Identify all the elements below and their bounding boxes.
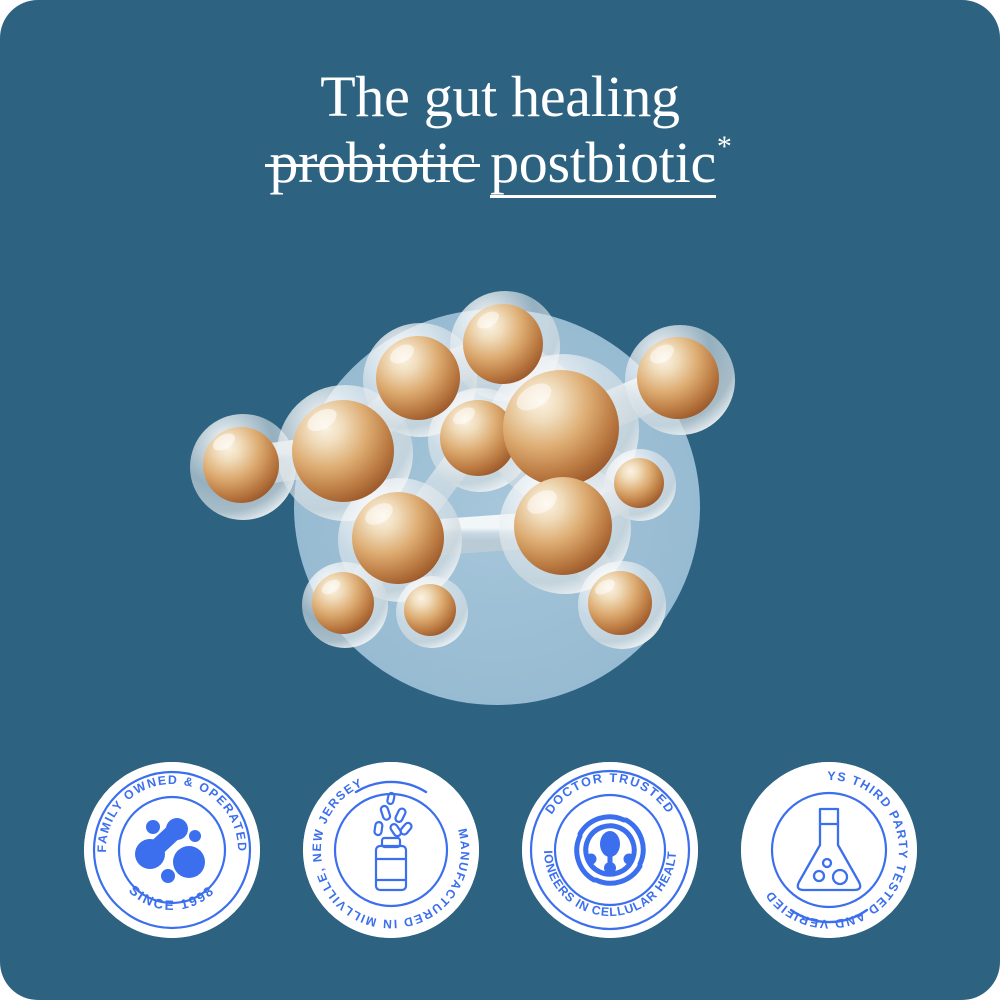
postbiotic-molecule-illustration — [0, 250, 1000, 730]
page-title: The gut healing probioticpostbiotic* — [0, 66, 1000, 194]
cell-atom-icon — [576, 817, 642, 883]
footnote-marker: * — [717, 130, 732, 163]
badge-family-owned[interactable]: FAMILY OWNED & OPERATED SINCE 1998 — [84, 762, 260, 938]
headline-line-1: The gut healing — [0, 66, 1000, 128]
trust-badge-row: FAMILY OWNED & OPERATED SINCE 1998 — [0, 762, 1000, 938]
badge-third-party-tested[interactable]: ALWAYS THIRD PARTY TESTED AND VERIFIED — [741, 762, 917, 938]
badge-doctor-trusted[interactable]: DOCTOR TRUSTED PIONEERS IN CELLULAR HEAL… — [522, 762, 698, 938]
strikethrough-word: probiotic — [269, 132, 476, 194]
headline-line-2: probioticpostbiotic* — [0, 132, 1000, 194]
emphasized-word: postbiotic — [490, 132, 716, 194]
promo-banner: The gut healing probioticpostbiotic* — [0, 0, 1000, 1000]
badge-manufactured-nj[interactable]: MANUFACTURED IN MILLVILLE, NEW JERSEY — [303, 762, 479, 938]
